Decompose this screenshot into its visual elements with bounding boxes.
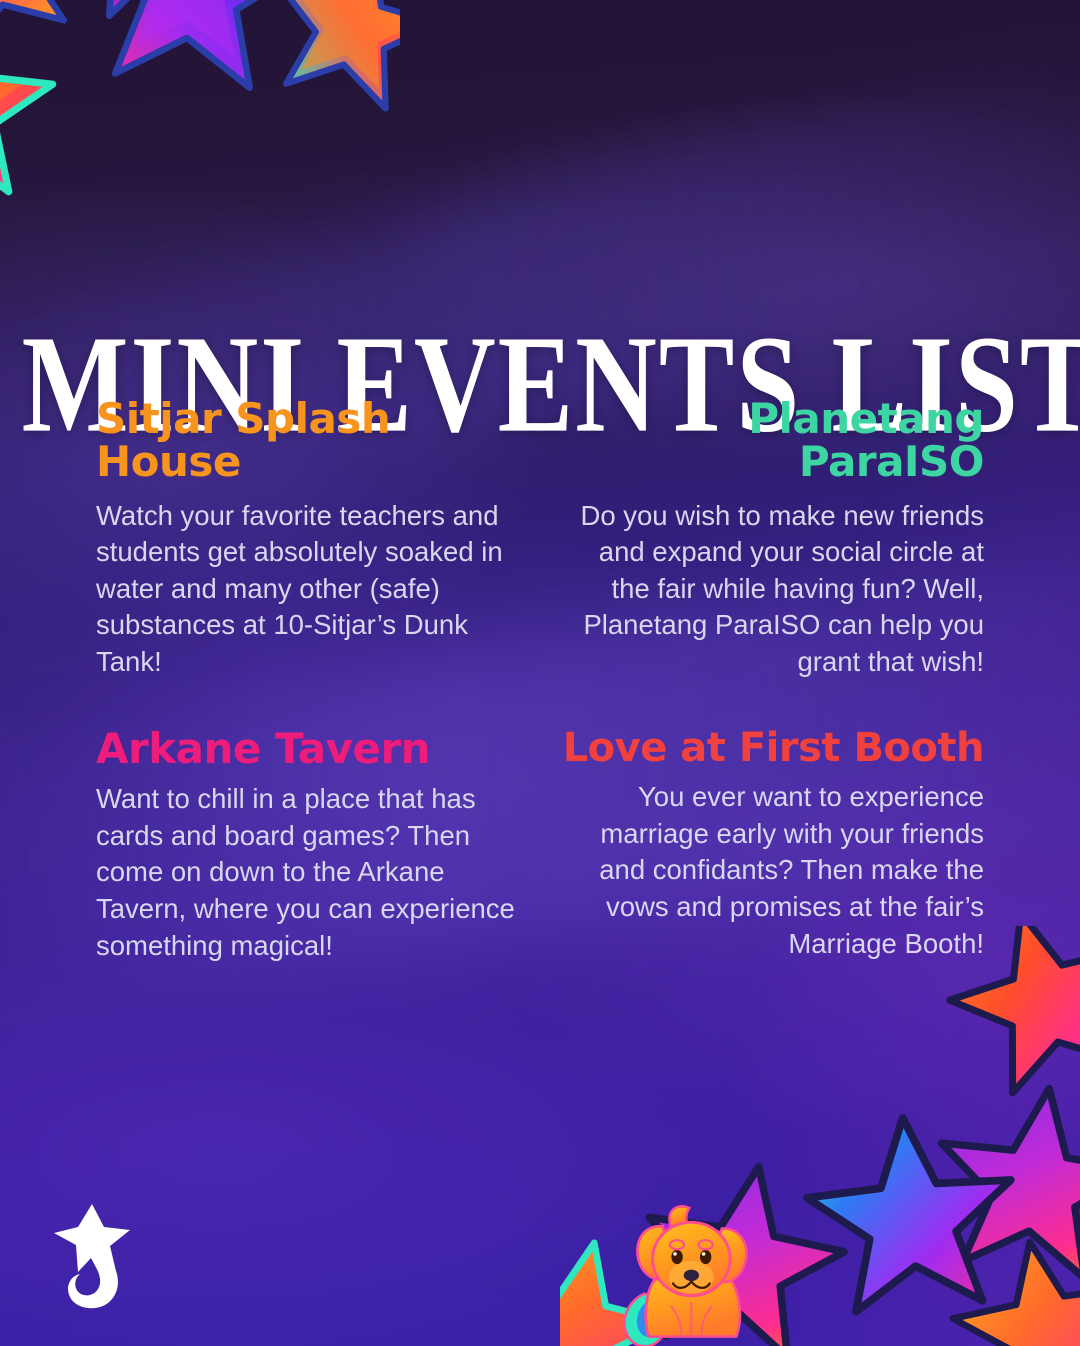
- event-title-arkane-tavern: Arkane Tavern: [96, 728, 520, 771]
- event-card-sitjar-splash-house: Sitjar Splash House Watch your favorite …: [96, 398, 520, 680]
- event-card-arkane-tavern: Arkane Tavern Want to chill in a place t…: [96, 728, 520, 964]
- event-title-love-at-first-booth: Love at First Booth: [560, 728, 984, 769]
- event-description-planetang-paraiso: Do you wish to make new friends and expa…: [560, 498, 984, 681]
- event-description-arkane-tavern: Want to chill in a place that has cards …: [96, 781, 520, 964]
- event-card-love-at-first-booth: Love at First Booth You ever want to exp…: [560, 728, 984, 964]
- event-title-planetang-paraiso: Planetang ParaISO: [560, 398, 984, 484]
- star-swirl-logo-icon: [48, 1200, 134, 1310]
- events-grid: Sitjar Splash House Watch your favorite …: [96, 398, 984, 964]
- events-row-two: Arkane Tavern Want to chill in a place t…: [96, 728, 984, 964]
- event-description-love-at-first-booth: You ever want to experience marriage ear…: [560, 779, 984, 962]
- event-title-sitjar-splash-house: Sitjar Splash House: [96, 398, 520, 484]
- events-row-one: Sitjar Splash House Watch your favorite …: [96, 398, 984, 680]
- poster-canvas: MINI EVENTS LIST Sitjar Splash House Wat…: [0, 0, 1080, 1346]
- event-description-sitjar-splash-house: Watch your favorite teachers and student…: [96, 498, 520, 681]
- event-card-planetang-paraiso: Planetang ParaISO Do you wish to make ne…: [560, 398, 984, 680]
